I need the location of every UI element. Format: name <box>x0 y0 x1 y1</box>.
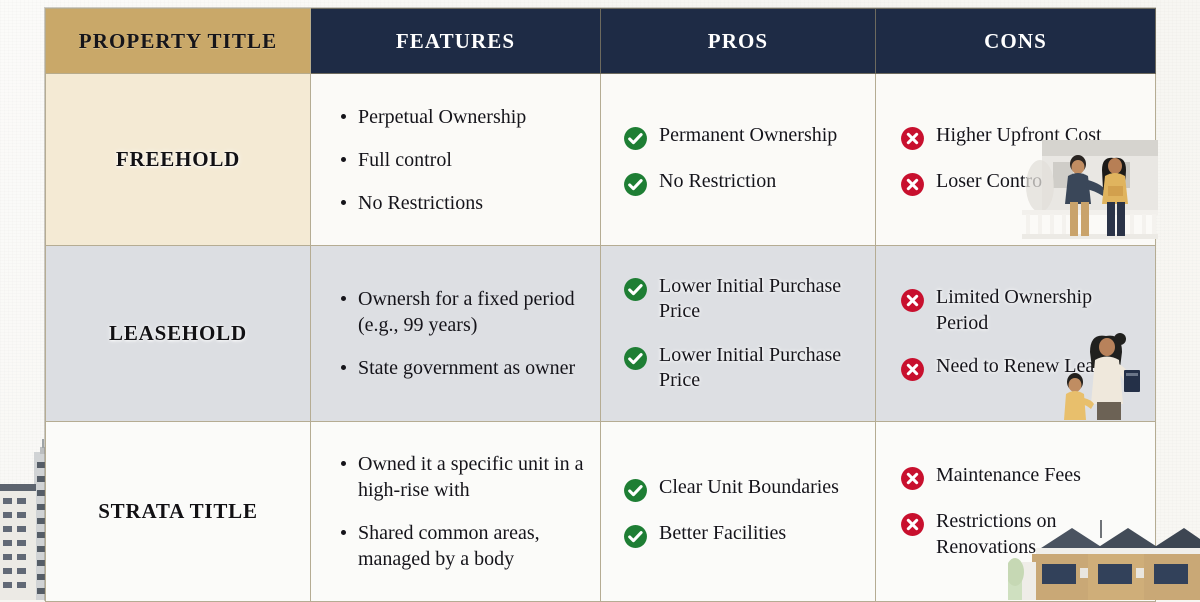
con-text: Higher Upfront Cost <box>936 123 1102 148</box>
check-circle-icon <box>623 126 648 151</box>
table-header: PROPERTY TITLE FEATURES PROS CONS <box>46 9 1156 74</box>
column-header-cons: CONS <box>876 9 1156 74</box>
list-item: Shared common areas, managed by a body <box>341 520 586 572</box>
pro-text: Lower Initial Purchase Price <box>659 274 865 324</box>
con-text: Maintenance Fees <box>936 463 1081 488</box>
cross-circle-icon <box>900 357 925 382</box>
column-header-pros: PROS <box>601 9 876 74</box>
check-circle-icon <box>623 478 648 503</box>
check-circle-icon <box>623 346 648 371</box>
cross-circle-icon <box>900 288 925 313</box>
con-text: Need to Renew Lease <box>936 354 1111 379</box>
pros-list: Lower Initial Purchase Price Lower Initi… <box>601 274 875 393</box>
check-circle-icon <box>623 172 648 197</box>
list-item: Lower Initial Purchase Price <box>623 274 865 324</box>
column-header-features: FEATURES <box>311 9 601 74</box>
cell-cons-freehold: Higher Upfront Cost Loser Control <box>876 74 1156 246</box>
features-list: Ownersh for a fixed period (e.g., 99 yea… <box>311 286 600 381</box>
cell-features-freehold: Perpetual Ownership Full control No Rest… <box>311 74 601 246</box>
list-item: Full control <box>341 147 586 173</box>
list-item: Owned it a specific unit in a high-rise … <box>341 451 586 503</box>
table-header-row: PROPERTY TITLE FEATURES PROS CONS <box>46 9 1156 74</box>
list-item: Perpetual Ownership <box>341 104 586 130</box>
list-item: No Restrictions <box>341 190 586 216</box>
pro-text: Clear Unit Boundaries <box>659 475 839 500</box>
pros-list: Permanent Ownership No Restriction <box>601 123 875 197</box>
property-title-comparison-table: PROPERTY TITLE FEATURES PROS CONS FREEHO… <box>45 8 1155 600</box>
list-item: Ownersh for a fixed period (e.g., 99 yea… <box>341 286 586 338</box>
features-list: Owned it a specific unit in a high-rise … <box>311 451 600 572</box>
list-item: Restrictions on Renovations <box>900 509 1145 559</box>
pro-text: Better Facilities <box>659 521 786 546</box>
list-item: Limited Ownership Period <box>900 285 1145 335</box>
con-text: Restrictions on Renovations <box>936 509 1145 559</box>
list-item: Maintenance Fees <box>900 463 1145 491</box>
list-item: Loser Control <box>900 169 1145 197</box>
cross-circle-icon <box>900 172 925 197</box>
check-circle-icon <box>623 524 648 549</box>
cell-pros-leasehold: Lower Initial Purchase Price Lower Initi… <box>601 246 876 422</box>
list-item: Lower Initial Purchase Price <box>623 343 865 393</box>
cons-list: Limited Ownership Period Need to Renew L… <box>876 285 1155 381</box>
column-header-property-title: PROPERTY TITLE <box>46 9 311 74</box>
row-title-strata: STRATA TITLE <box>46 422 311 602</box>
con-text: Limited Ownership Period <box>936 285 1145 335</box>
cross-circle-icon <box>900 466 925 491</box>
pro-text: No Restriction <box>659 169 776 194</box>
list-item: Clear Unit Boundaries <box>623 475 865 503</box>
cell-cons-leasehold: Limited Ownership Period Need to Renew L… <box>876 246 1156 422</box>
pros-list: Clear Unit Boundaries Better Facilities <box>601 475 875 549</box>
row-title-freehold: FREEHOLD <box>46 74 311 246</box>
list-item: Higher Upfront Cost <box>900 123 1145 151</box>
list-item: Permanent Ownership <box>623 123 865 151</box>
list-item: Need to Renew Lease <box>900 354 1145 382</box>
table-row: LEASEHOLD Ownersh for a fixed period (e.… <box>46 246 1156 422</box>
list-item: Better Facilities <box>623 521 865 549</box>
cross-circle-icon <box>900 126 925 151</box>
table-body: FREEHOLD Perpetual Ownership Full contro… <box>46 74 1156 602</box>
pro-text: Permanent Ownership <box>659 123 837 148</box>
cell-features-strata: Owned it a specific unit in a high-rise … <box>311 422 601 602</box>
check-circle-icon <box>623 277 648 302</box>
cell-cons-strata: Maintenance Fees Restrictions on Renovat… <box>876 422 1156 602</box>
cons-list: Maintenance Fees Restrictions on Renovat… <box>876 463 1155 559</box>
list-item: State government as owner <box>341 355 586 381</box>
pro-text: Lower Initial Purchase Price <box>659 343 865 393</box>
table-row: STRATA TITLE Owned it a specific unit in… <box>46 422 1156 602</box>
list-item: No Restriction <box>623 169 865 197</box>
row-title-leasehold: LEASEHOLD <box>46 246 311 422</box>
cell-features-leasehold: Ownersh for a fixed period (e.g., 99 yea… <box>311 246 601 422</box>
cell-pros-strata: Clear Unit Boundaries Better Facilities <box>601 422 876 602</box>
cell-pros-freehold: Permanent Ownership No Restriction <box>601 74 876 246</box>
features-list: Perpetual Ownership Full control No Rest… <box>311 104 600 216</box>
cross-circle-icon <box>900 512 925 537</box>
con-text: Loser Control <box>936 169 1048 194</box>
cons-list: Higher Upfront Cost Loser Control <box>876 123 1155 197</box>
table-row: FREEHOLD Perpetual Ownership Full contro… <box>46 74 1156 246</box>
